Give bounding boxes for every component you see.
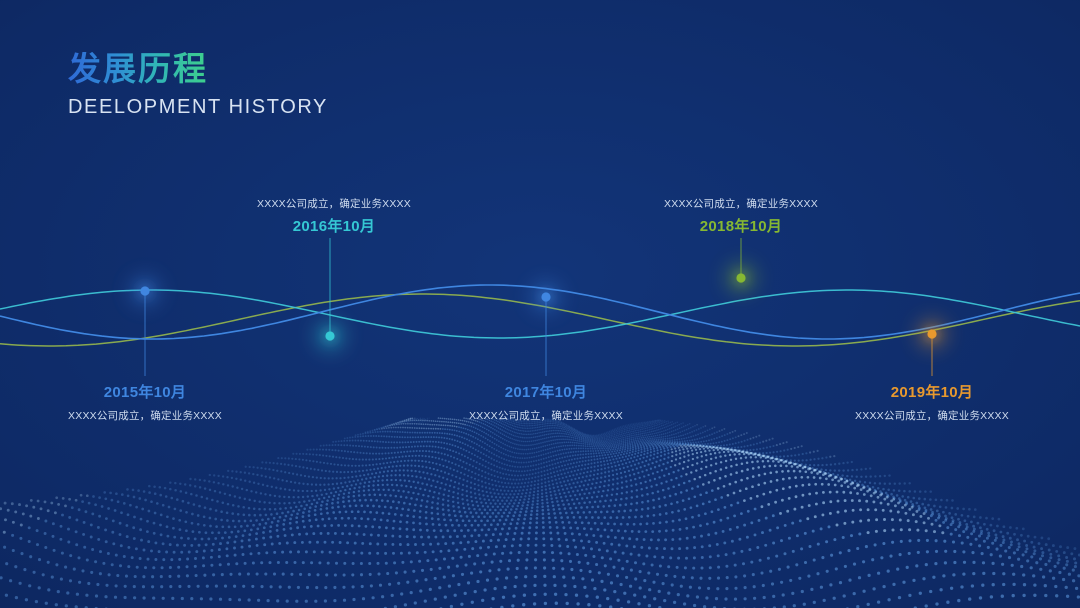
milestone-date-2015: 2015年10月 [0, 384, 295, 402]
milestone-desc-2015: XXXX公司成立，确定业务XXXX [0, 410, 295, 423]
slide-canvas: 发展历程 DEELOPMENT HISTORY 2015年10月XXXX公司成立… [0, 0, 1080, 608]
milestone-2019[interactable]: 2019年10月XXXX公司成立，确定业务XXXX [782, 384, 1080, 423]
timeline-dot-2017[interactable] [541, 292, 550, 301]
milestone-date-2017: 2017年10月 [396, 384, 696, 402]
milestone-2017[interactable]: 2017年10月XXXX公司成立，确定业务XXXX [396, 384, 696, 423]
page-header: 发展历程 DEELOPMENT HISTORY [68, 52, 328, 119]
timeline-dot-2015[interactable] [140, 286, 149, 295]
milestone-desc-2016: XXXX公司成立，确定业务XXXX [184, 198, 484, 211]
milestone-2015[interactable]: 2015年10月XXXX公司成立，确定业务XXXX [0, 384, 295, 423]
milestone-date-2018: 2018年10月 [591, 218, 891, 236]
milestone-desc-2017: XXXX公司成立，确定业务XXXX [396, 410, 696, 423]
page-title: 发展历程 [68, 52, 208, 85]
timeline-dot-2018[interactable] [736, 273, 745, 282]
milestone-2018[interactable]: XXXX公司成立，确定业务XXXX2018年10月 [591, 198, 891, 236]
timeline-dot-2016[interactable] [325, 331, 334, 340]
milestone-date-2016: 2016年10月 [184, 218, 484, 236]
milestone-desc-2018: XXXX公司成立，确定业务XXXX [591, 198, 891, 211]
milestone-date-2019: 2019年10月 [782, 384, 1080, 402]
page-subtitle: DEELOPMENT HISTORY [68, 96, 328, 119]
timeline-dot-2019[interactable] [927, 329, 936, 338]
milestone-desc-2019: XXXX公司成立，确定业务XXXX [782, 410, 1080, 423]
milestone-2016[interactable]: XXXX公司成立，确定业务XXXX2016年10月 [184, 198, 484, 236]
